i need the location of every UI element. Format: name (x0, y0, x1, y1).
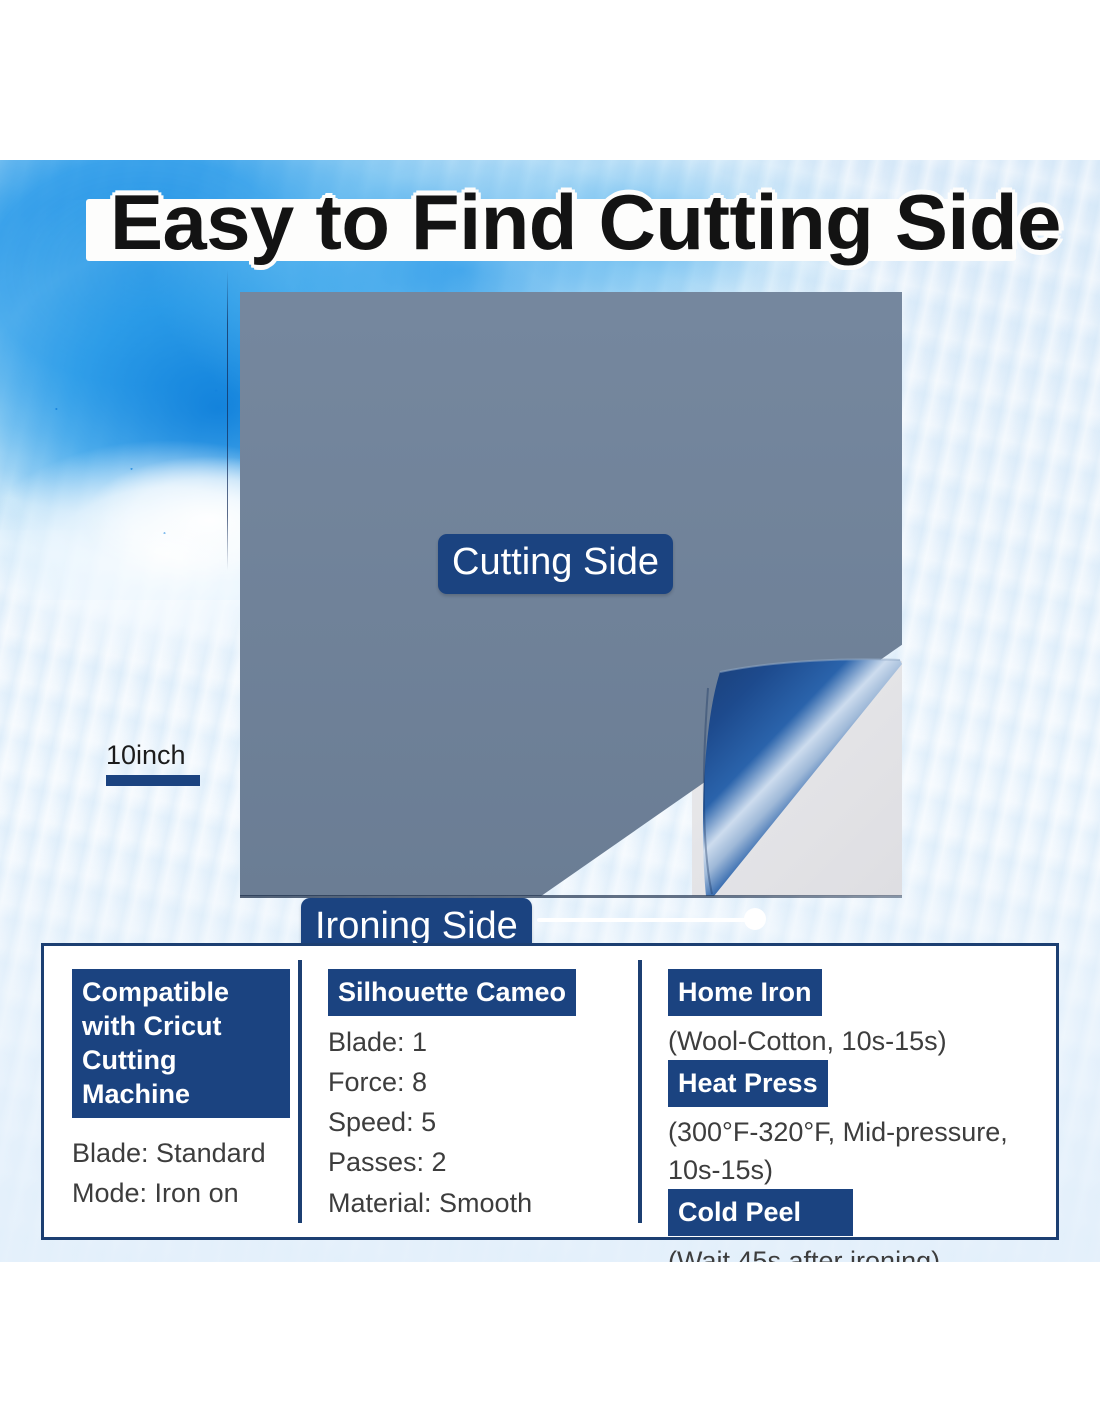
spec-header-cricut: Compatible with Cricut Cutting Machine (72, 969, 290, 1118)
spec-column-silhouette: Silhouette Cameo Blade: 1 Force: 8 Speed… (300, 946, 640, 1237)
spec-line: Blade: Standard (72, 1134, 290, 1173)
spec-line: Mode: Iron on (72, 1174, 290, 1213)
dimension-height-bar (106, 775, 200, 786)
spec-line: (Wait 45s after ironing) (668, 1243, 1042, 1262)
callout-leader-dot (744, 908, 766, 930)
peeled-corner (690, 658, 902, 896)
spec-line: Passes: 2 (328, 1143, 630, 1182)
callout-leader-line (537, 918, 753, 922)
spec-line: Material: Smooth (328, 1184, 630, 1223)
spec-header-cold-peel: Cold Peel (668, 1189, 853, 1236)
artwork-area: Easy to Find Cutting Side (0, 160, 1100, 1262)
spec-table: Compatible with Cricut Cutting Machine B… (41, 943, 1059, 1240)
spec-header-heat-press: Heat Press (668, 1060, 828, 1107)
spec-header-silhouette: Silhouette Cameo (328, 969, 576, 1016)
spec-column-cricut: Compatible with Cricut Cutting Machine B… (44, 946, 300, 1237)
spec-header-cricut-line3: Cutting Machine (82, 1045, 190, 1109)
spec-line: Blade: 1 (328, 1023, 630, 1062)
spec-line: Speed: 5 (328, 1103, 630, 1142)
spec-header-cricut-line2: with Cricut (82, 1011, 222, 1041)
product-infographic: Easy to Find Cutting Side (0, 0, 1100, 1422)
spec-line: Force: 8 (328, 1063, 630, 1102)
spec-line: 10s-15s) (668, 1152, 1042, 1188)
dimension-height: 10inch (106, 742, 200, 786)
cutting-side-label: Cutting Side (438, 534, 673, 594)
spec-line: (300°F-320°F, Mid-pressure, (668, 1114, 1042, 1150)
spec-header-cricut-line1: Compatible (82, 977, 229, 1007)
page-title: Easy to Find Cutting Side (110, 174, 1018, 270)
spec-line: (Wool-Cotton, 10s-15s) (668, 1023, 1042, 1059)
spec-header-home-iron: Home Iron (668, 969, 822, 1016)
spec-column-application: Home Iron (Wool-Cotton, 10s-15s) Heat Pr… (640, 946, 1052, 1237)
vinyl-sheet (240, 292, 902, 896)
dimension-height-text: 10inch (106, 742, 200, 769)
background-edge-line (227, 270, 228, 570)
